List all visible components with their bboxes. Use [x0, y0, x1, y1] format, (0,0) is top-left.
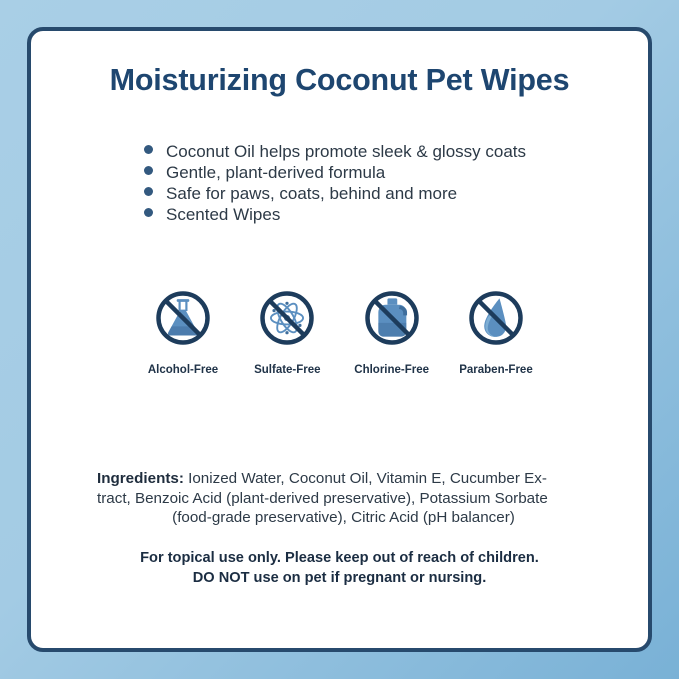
list-item-label: Safe for paws, coats, behind and more: [166, 183, 457, 204]
badge-alcohol-free: Alcohol-Free: [137, 283, 229, 376]
bullet-dot-icon: [144, 145, 153, 154]
ingredients-text-1: Ionized Water, Coconut Oil, Vitamin E, C…: [184, 470, 547, 487]
bullet-dot-icon: [144, 166, 153, 175]
list-item: Coconut Oil helps promote sleek & glossy…: [144, 141, 526, 162]
ingredients-label: Ingredients:: [97, 470, 184, 487]
no-atom-icon: [252, 283, 322, 353]
list-item-label: Coconut Oil helps promote sleek & glossy…: [166, 141, 526, 162]
badge-label: Paraben-Free: [459, 364, 533, 376]
free-of-badges: Alcohol-Free Sulfate-F: [54, 283, 625, 376]
bullet-dot-icon: [144, 187, 153, 196]
badge-paraben-free: Paraben-Free: [450, 283, 542, 376]
badge-label: Alcohol-Free: [148, 364, 218, 376]
list-item: Safe for paws, coats, behind and more: [144, 183, 526, 204]
list-item-label: Gentle, plant-derived formula: [166, 162, 385, 183]
benefits-list: Coconut Oil helps promote sleek & glossy…: [144, 141, 526, 225]
no-flask-icon: [148, 283, 218, 353]
product-info-panel: Moisturizing Coconut Pet Wipes Coconut O…: [27, 27, 652, 652]
badge-label: Chlorine-Free: [354, 364, 429, 376]
badge-chlorine-free: Chlorine-Free: [346, 283, 438, 376]
list-item-label: Scented Wipes: [166, 204, 280, 225]
no-bleach-jug-icon: [357, 283, 427, 353]
list-item: Scented Wipes: [144, 204, 526, 225]
warning-line-1: For topical use only. Please keep out of…: [71, 549, 608, 569]
badge-sulfate-free: Sulfate-Free: [241, 283, 333, 376]
ingredients-line-3: (food-grade preservative), Citric Acid (…: [97, 508, 590, 528]
ingredients-block: Ingredients: Ionized Water, Coconut Oil,…: [97, 469, 590, 528]
ingredients-line-2: tract, Benzoic Acid (plant-derived prese…: [97, 489, 590, 509]
ingredients-line-1: Ingredients: Ionized Water, Coconut Oil,…: [97, 469, 590, 489]
warning-line-2: DO NOT use on pet if pregnant or nursing…: [71, 569, 608, 589]
warning-block: For topical use only. Please keep out of…: [71, 549, 608, 588]
bullet-dot-icon: [144, 208, 153, 217]
no-water-droplet-icon: [461, 283, 531, 353]
page-title: Moisturizing Coconut Pet Wipes: [31, 63, 648, 98]
list-item: Gentle, plant-derived formula: [144, 162, 526, 183]
badge-label: Sulfate-Free: [254, 364, 320, 376]
